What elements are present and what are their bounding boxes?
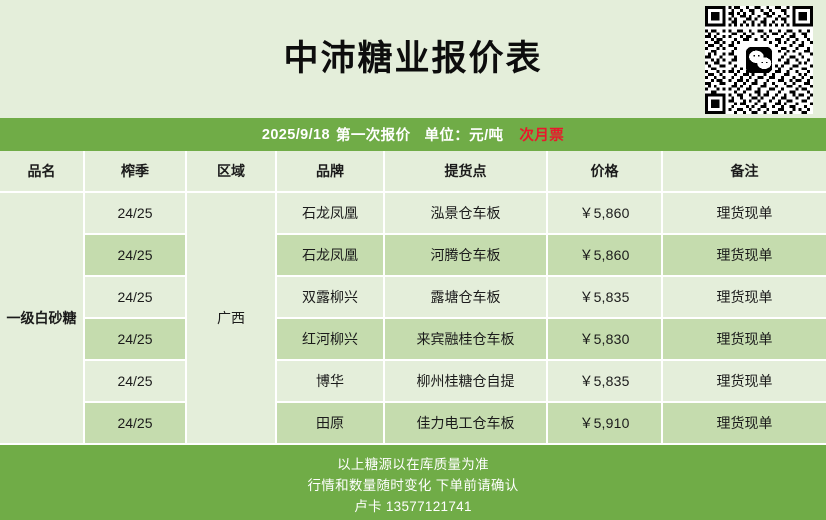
column-header-price: 价格 xyxy=(548,151,663,193)
cell-price: ￥5,835 xyxy=(548,361,663,403)
table-body: 一级白砂糖 24/25 广西 石龙凤凰 泓景仓车板 ￥5,860 理货现单 24… xyxy=(0,193,826,445)
table-row: 24/25 红河柳兴 来宾融桂仓车板 ￥5,830 理货现单 xyxy=(0,319,826,361)
footer-notes: 以上糖源以在库质量为准 行情和数量随时变化 下单前请确认 卢卡 13577121… xyxy=(0,445,826,520)
cell-brand: 红河柳兴 xyxy=(277,319,385,361)
table-row: 24/25 田原 佳力电工仓车板 ￥5,910 理货现单 xyxy=(0,403,826,445)
page-title: 中沛糖业报价表 xyxy=(0,36,826,82)
cell-product-name: 一级白砂糖 xyxy=(0,193,85,445)
cell-remark: 理货现单 xyxy=(663,277,826,319)
cell-price: ￥5,830 xyxy=(548,319,663,361)
banner: 中沛糖业报价表 xyxy=(0,0,826,118)
cell-pickup: 来宾融桂仓车板 xyxy=(385,319,548,361)
column-header-pickup: 提货点 xyxy=(385,151,548,193)
table-row: 24/25 双露柳兴 露塘仓车板 ￥5,835 理货现单 xyxy=(0,277,826,319)
cell-season: 24/25 xyxy=(85,319,187,361)
table-header-row: 品名 榨季 区域 品牌 提货点 价格 备注 xyxy=(0,151,826,193)
cell-remark: 理货现单 xyxy=(663,235,826,277)
table-row: 一级白砂糖 24/25 广西 石龙凤凰 泓景仓车板 ￥5,860 理货现单 xyxy=(0,193,826,235)
column-header-product: 品名 xyxy=(0,151,85,193)
cell-price: ￥5,910 xyxy=(548,403,663,445)
cell-brand: 田原 xyxy=(277,403,385,445)
cell-remark: 理货现单 xyxy=(663,403,826,445)
cell-pickup: 露塘仓车板 xyxy=(385,277,548,319)
quote-table: 品名 榨季 区域 品牌 提货点 价格 备注 一级白砂糖 24/25 广西 石龙凤… xyxy=(0,151,826,445)
table-row: 24/25 石龙凤凰 河腾仓车板 ￥5,860 理货现单 xyxy=(0,235,826,277)
cell-season: 24/25 xyxy=(85,193,187,235)
cell-remark: 理货现单 xyxy=(663,361,826,403)
footer-line-quality: 以上糖源以在库质量为准 xyxy=(0,454,826,475)
table-row: 24/25 博华 柳州桂糖仓自提 ￥5,835 理货现单 xyxy=(0,361,826,403)
wechat-qr-code-icon[interactable] xyxy=(704,6,814,114)
cell-season: 24/25 xyxy=(85,235,187,277)
cell-brand: 石龙凤凰 xyxy=(277,193,385,235)
cell-price: ￥5,860 xyxy=(548,193,663,235)
quote-date: 2025/9/18 xyxy=(262,127,330,143)
cell-remark: 理货现单 xyxy=(663,193,826,235)
column-header-remark: 备注 xyxy=(663,151,826,193)
cell-remark: 理货现单 xyxy=(663,319,826,361)
cell-brand: 博华 xyxy=(277,361,385,403)
cell-pickup: 柳州桂糖仓自提 xyxy=(385,361,548,403)
quotation-sheet: 中沛糖业报价表 xyxy=(0,0,826,519)
cell-season: 24/25 xyxy=(85,361,187,403)
cell-pickup: 泓景仓车板 xyxy=(385,193,548,235)
cell-pickup: 河腾仓车板 xyxy=(385,235,548,277)
cell-brand: 石龙凤凰 xyxy=(277,235,385,277)
cell-pickup: 佳力电工仓车板 xyxy=(385,403,548,445)
cell-price: ￥5,860 xyxy=(548,235,663,277)
footer-contact: 卢卡 13577121741 xyxy=(0,496,826,517)
quote-round: 第一次报价 xyxy=(336,124,411,145)
column-header-region: 区域 xyxy=(187,151,277,193)
quote-subtitle-bar: 2025/9/18 第一次报价 单位：元/吨 次月票 xyxy=(0,118,826,151)
table-header: 品名 榨季 区域 品牌 提货点 价格 备注 xyxy=(0,151,826,193)
quote-unit: 单位：元/吨 xyxy=(424,124,503,145)
cell-region: 广西 xyxy=(187,193,277,445)
quote-payment-note: 次月票 xyxy=(519,124,564,145)
cell-price: ￥5,835 xyxy=(548,277,663,319)
column-header-season: 榨季 xyxy=(85,151,187,193)
footer-line-disclaimer: 行情和数量随时变化 下单前请确认 xyxy=(0,475,826,496)
cell-season: 24/25 xyxy=(85,403,187,445)
cell-season: 24/25 xyxy=(85,277,187,319)
column-header-brand: 品牌 xyxy=(277,151,385,193)
cell-brand: 双露柳兴 xyxy=(277,277,385,319)
